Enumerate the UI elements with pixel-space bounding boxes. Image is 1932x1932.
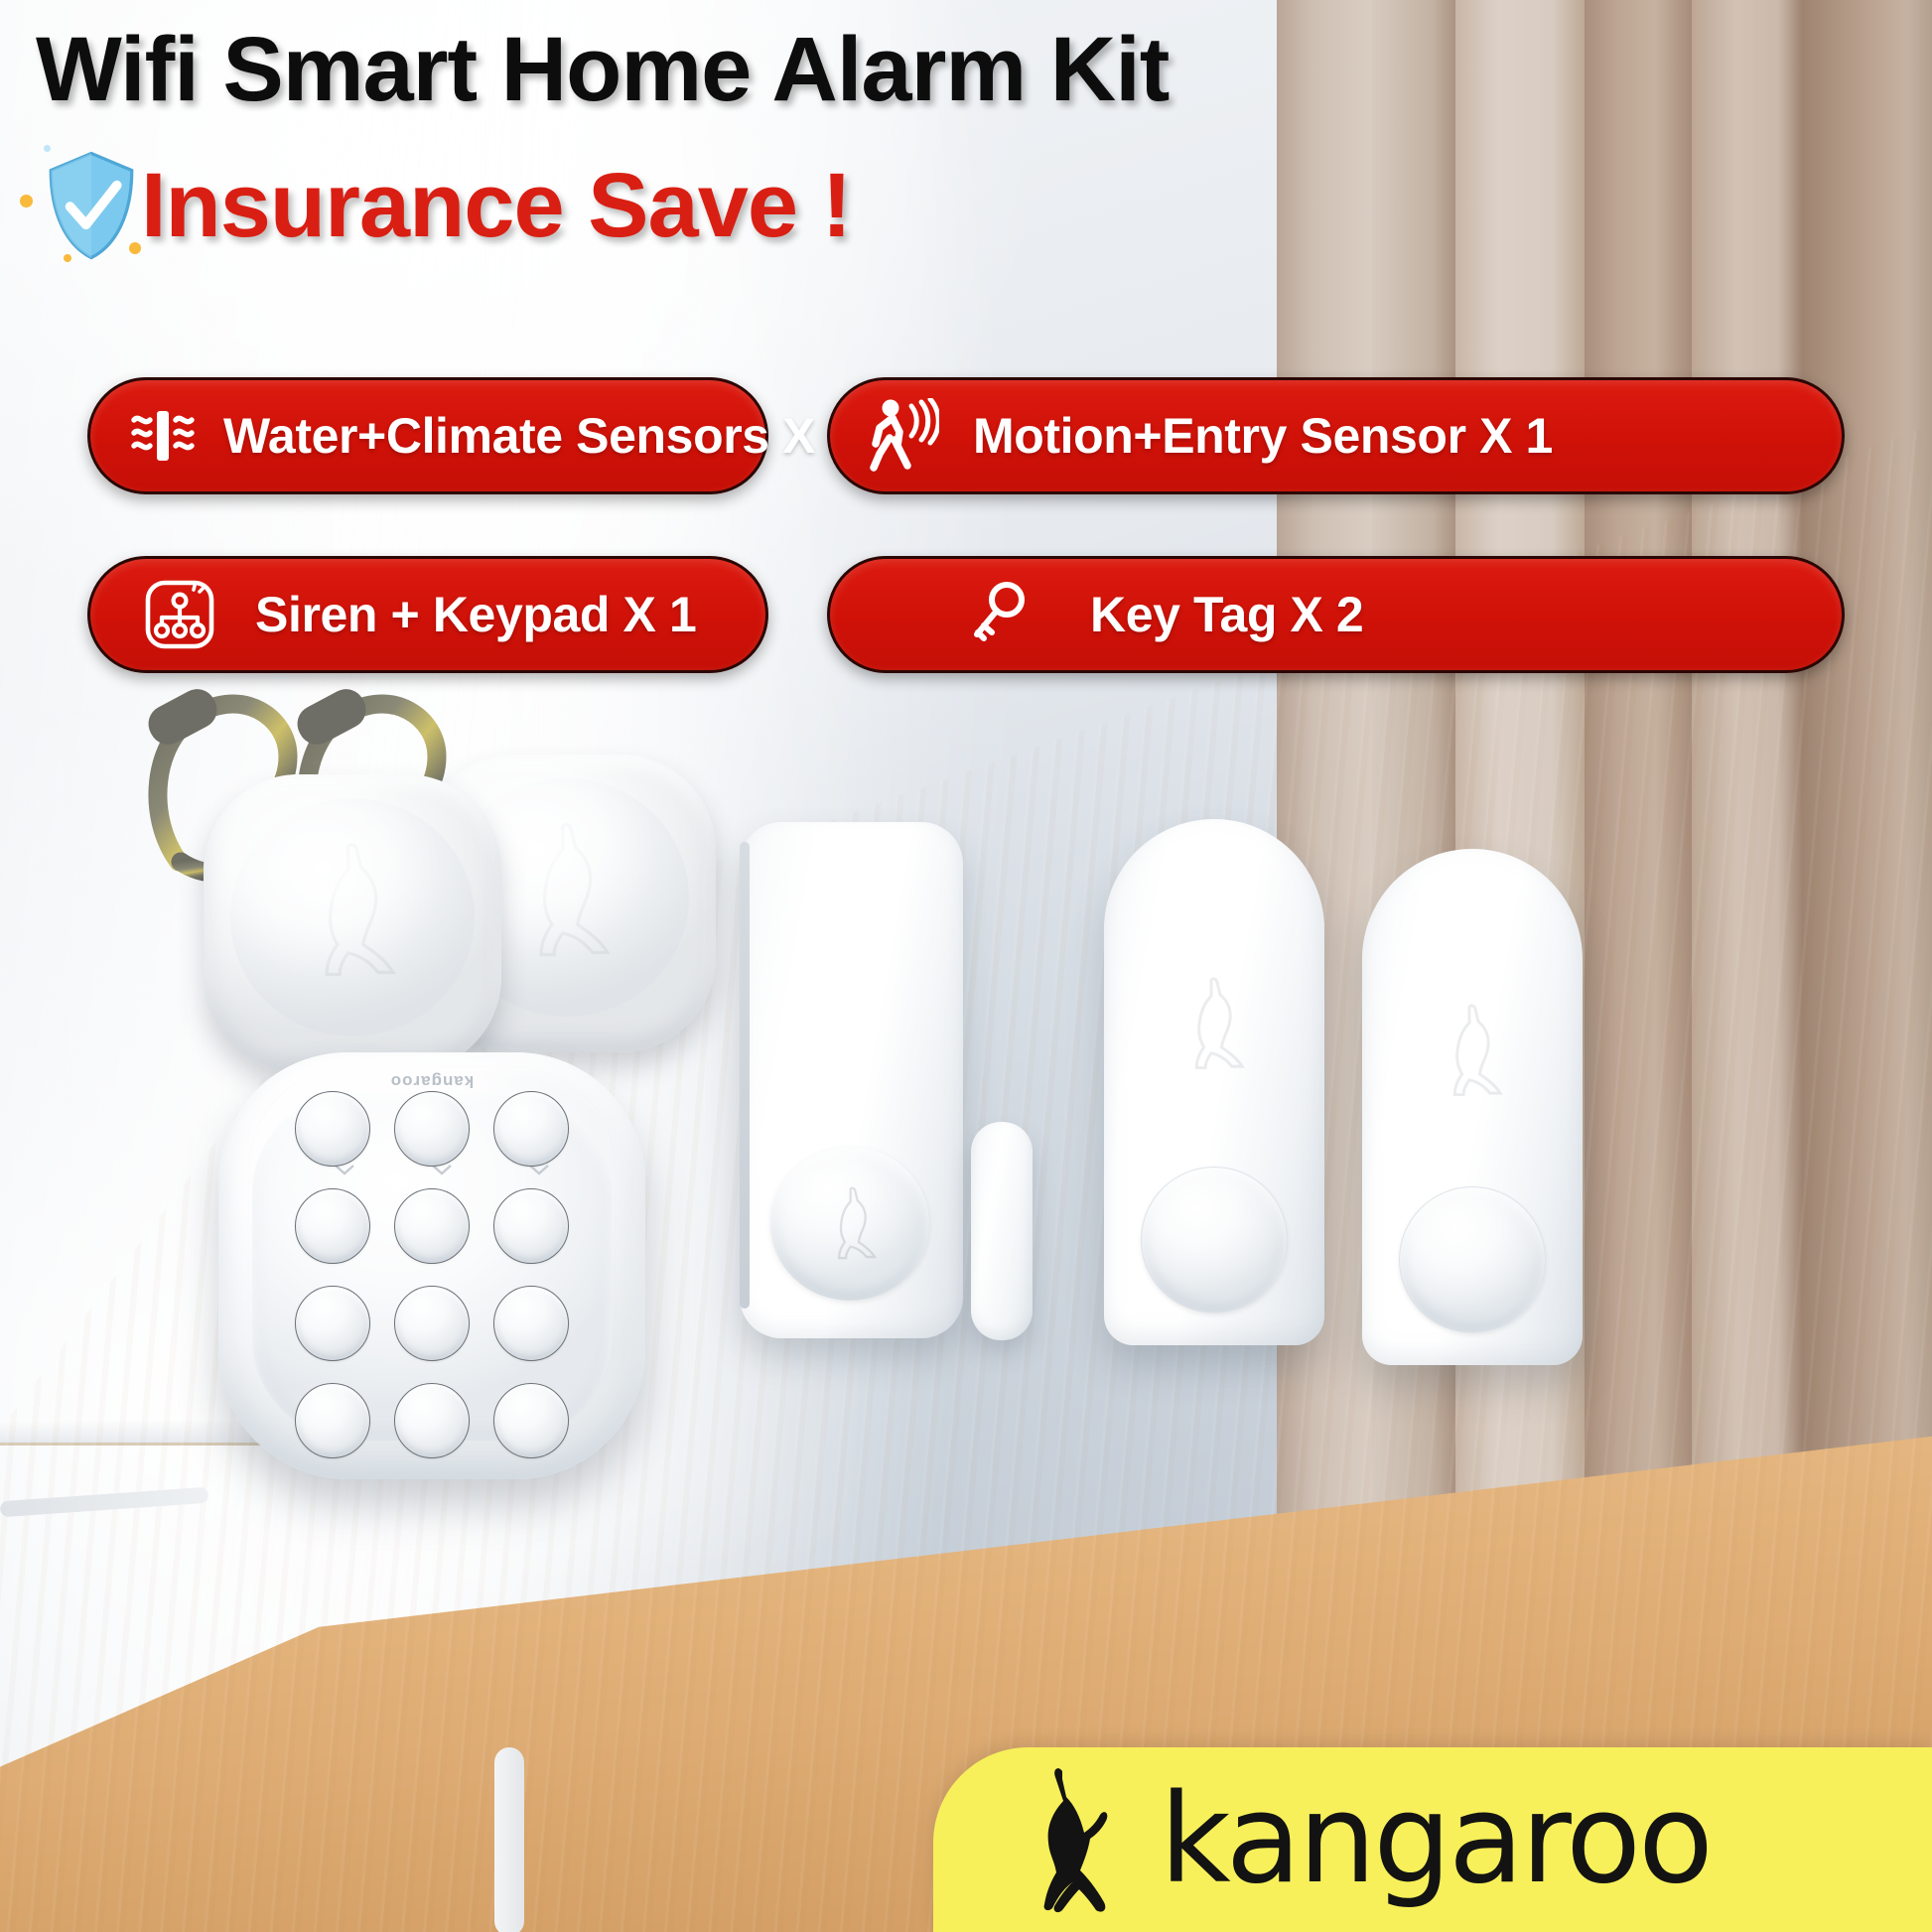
page-subtitle: Insurance Save ! (141, 154, 851, 258)
kangaroo-silhouette-icon (1177, 977, 1251, 1072)
sensor-test-button[interactable] (1141, 1167, 1288, 1313)
keypad-key[interactable] (493, 1091, 569, 1167)
shield-check-icon (38, 147, 145, 264)
sensor-test-button[interactable] (1399, 1186, 1546, 1333)
keypad-key[interactable] (493, 1188, 569, 1264)
sparkle-dot (20, 195, 33, 207)
kangaroo-silhouette-icon (512, 822, 621, 961)
siren-keypad-device: kangaroo (218, 1052, 645, 1479)
keypad-cable (494, 1747, 524, 1932)
motion-walk-waves-icon (868, 398, 939, 474)
sparkle-dot (44, 145, 51, 152)
water-climate-sensor-device (1362, 849, 1583, 1365)
sensor-seam (740, 842, 750, 1309)
keypad-key[interactable] (295, 1091, 370, 1167)
keypad-key[interactable] (295, 1286, 370, 1361)
entry-sensor-magnet (971, 1122, 1033, 1340)
key-tag-fob (204, 774, 501, 1072)
badge-label: Siren + Keypad X 1 (255, 586, 696, 643)
key-icon (969, 580, 1035, 649)
kangaroo-silhouette-icon (1019, 1765, 1130, 1914)
sparkle-dot (64, 254, 71, 262)
keypad-key[interactable] (394, 1091, 470, 1167)
siren-keypad-icon (142, 577, 217, 652)
kangaroo-silhouette-icon (1436, 1004, 1509, 1099)
product-scene: kangaroo (0, 0, 1932, 1932)
keypad-button-grid[interactable] (295, 1091, 569, 1458)
keypad-key[interactable] (493, 1383, 569, 1458)
keypad-key[interactable] (394, 1188, 470, 1264)
subtitle-row: Insurance Save ! (38, 147, 851, 264)
badge-label: Motion+Entry Sensor X 1 (973, 407, 1553, 465)
badge-key-tag[interactable]: Key Tag X 2 (827, 556, 1845, 673)
pir-lens (770, 1147, 929, 1301)
brand-logo-text: kangaroo (1160, 1778, 1711, 1901)
keypad-key[interactable] (295, 1188, 370, 1264)
sparkle-dot (129, 242, 141, 254)
keypad-key[interactable] (493, 1286, 569, 1361)
badge-label: Key Tag X 2 (1090, 586, 1363, 643)
water-climate-sensor-icon (128, 401, 198, 471)
kangaroo-silhouette-icon (298, 842, 407, 981)
keypad-key[interactable] (295, 1383, 370, 1458)
water-climate-sensor-device (1104, 819, 1324, 1345)
badge-label: Water+Climate Sensors X 2 (223, 407, 856, 465)
badge-water-climate[interactable]: Water+Climate Sensors X 2 (87, 377, 768, 494)
keypad-key[interactable] (394, 1286, 470, 1361)
badge-siren-keypad[interactable]: Siren + Keypad X 1 (87, 556, 768, 673)
keypad-key[interactable] (394, 1383, 470, 1458)
page-title: Wifi Smart Home Alarm Kit (36, 18, 1169, 122)
kangaroo-silhouette-icon (824, 1186, 882, 1262)
brand-logo: kangaroo (933, 1747, 1932, 1932)
badge-motion-entry[interactable]: Motion+Entry Sensor X 1 (827, 377, 1845, 494)
keypad-brand-label: kangaroo (390, 1071, 475, 1091)
